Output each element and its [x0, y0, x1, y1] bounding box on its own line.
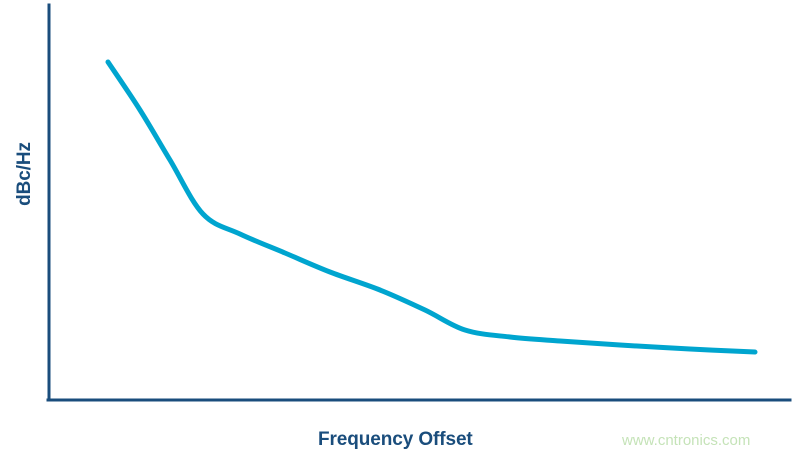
plot-canvas: [0, 0, 796, 460]
series-group: [108, 62, 755, 352]
x-axis-label: Frequency Offset: [318, 429, 473, 451]
axis-group: [48, 5, 790, 400]
watermark-text: www.cntronics.com: [622, 432, 750, 449]
y-axis-label: dBc/Hz: [14, 126, 36, 222]
phase-noise-figure: dBc/Hz Frequency Offset www.cntronics.co…: [0, 0, 796, 460]
phase-noise-curve: [108, 62, 755, 352]
